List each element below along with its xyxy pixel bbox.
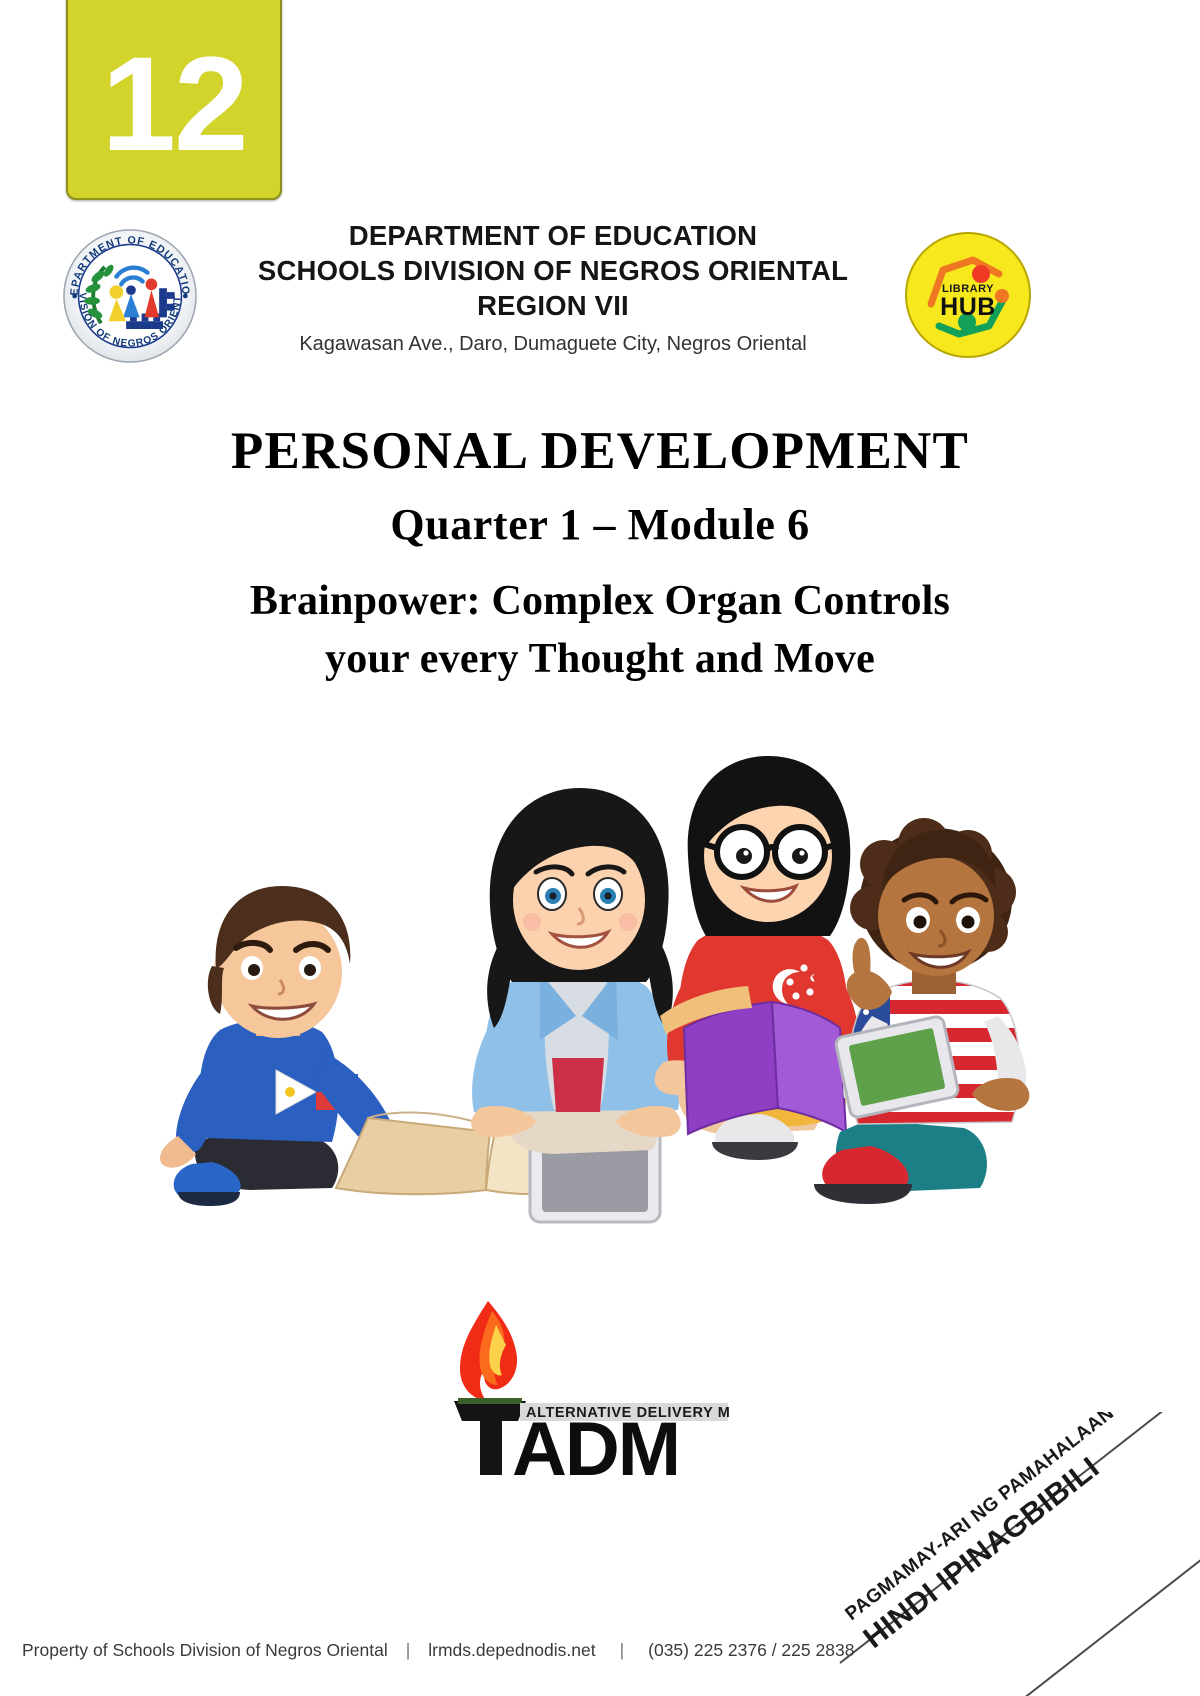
header-line-division: SCHOOLS DIVISION OF NEGROS ORIENTAL bbox=[215, 253, 891, 288]
library-hub-logo-icon: LIBRARY HUB bbox=[903, 230, 1033, 360]
stamp-rule-top bbox=[839, 1412, 1200, 1664]
module-cover-page: 12 DEPARTMENT OF EDUCATION DIVISION OF N… bbox=[0, 0, 1200, 1696]
torch-flame-icon bbox=[460, 1301, 517, 1401]
stamp-line-pagmamay-ari: PAGMAMAY-ARI NG PAMAHALAAN bbox=[842, 1412, 1119, 1626]
subject-title: PERSONAL DEVELOPMENT bbox=[60, 420, 1140, 482]
figure-girl-denim bbox=[471, 788, 681, 1154]
department-header: DEPARTMENT OF EDUCATION SCHOOLS DIVISION… bbox=[215, 218, 891, 358]
page-footer: Property of Schools Division of Negros O… bbox=[0, 1640, 1200, 1661]
svg-text:ADM: ADM bbox=[512, 1407, 679, 1475]
module-subtitle: Quarter 1 – Module 6 bbox=[60, 496, 1140, 554]
footer-website-link[interactable]: lrmds.depednodis.net bbox=[428, 1640, 595, 1661]
deped-seal-icon: DEPARTMENT OF EDUCATION DIVISION OF NEGR… bbox=[62, 228, 198, 364]
header-address: Kagawasan Ave., Daro, Dumaguete City, Ne… bbox=[215, 330, 891, 358]
header-line-region: REGION VII bbox=[215, 288, 891, 323]
stamp-line-hindi-ipinagbibili: HINDI IPINAGBIBILI bbox=[858, 1423, 1143, 1656]
svg-text:HUB: HUB bbox=[940, 293, 996, 321]
title-block: PERSONAL DEVELOPMENT Quarter 1 – Module … bbox=[60, 420, 1140, 688]
topic-title-line1: Brainpower: Complex Organ Controls bbox=[60, 572, 1140, 630]
adm-logo: ALTERNATIVE DELIVERY MODE ADM bbox=[430, 1285, 730, 1475]
header-line-department: DEPARTMENT OF EDUCATION bbox=[215, 218, 891, 253]
footer-separator-1: | bbox=[388, 1640, 429, 1661]
grade-level-badge: 12 bbox=[66, 0, 282, 200]
footer-property-text: Property of Schools Division of Negros O… bbox=[22, 1640, 388, 1661]
footer-separator-2: | bbox=[596, 1640, 649, 1661]
grade-level-number: 12 bbox=[101, 38, 246, 198]
cover-illustration bbox=[100, 740, 1100, 1260]
footer-phone-number: (035) 225 2376 / 225 2838 bbox=[648, 1640, 854, 1661]
topic-title-line2: your every Thought and Move bbox=[60, 630, 1140, 688]
